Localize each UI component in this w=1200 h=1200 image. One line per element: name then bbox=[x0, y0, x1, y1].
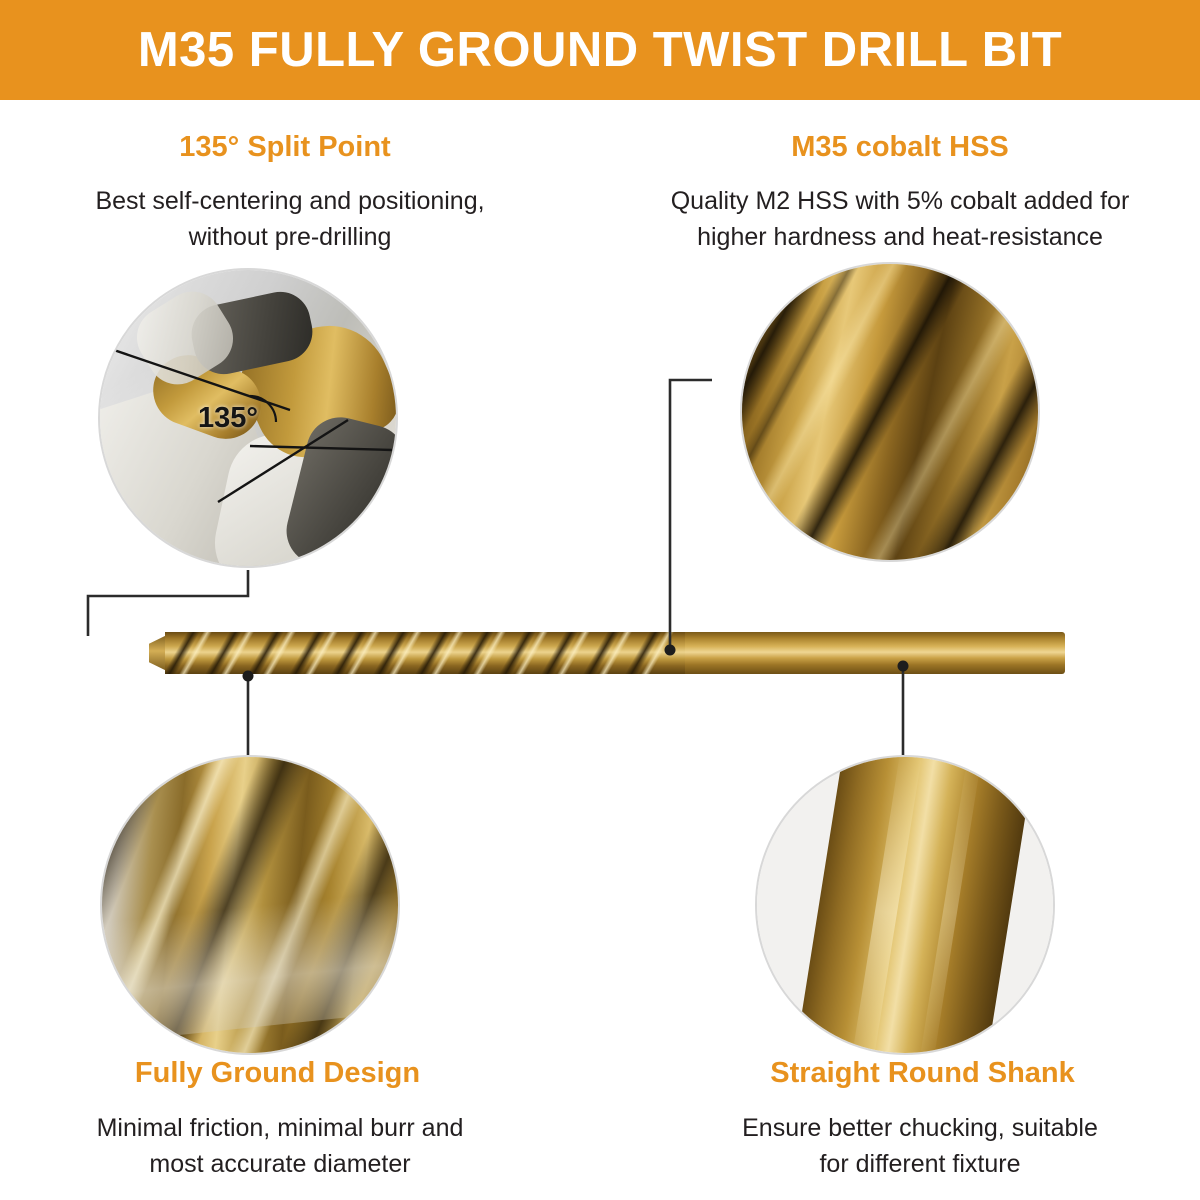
drill-flutes bbox=[165, 632, 685, 674]
callout-body-round-shank-line2: for different fixture bbox=[660, 1146, 1180, 1182]
infographic-root: M35 FULLY GROUND TWIST DRILL BIT 135° Sp… bbox=[0, 0, 1200, 1200]
product-drill-bit bbox=[75, 610, 1065, 690]
callout-body-fully-ground-line2: most accurate diameter bbox=[20, 1146, 540, 1182]
photo-fully-ground bbox=[100, 755, 400, 1055]
photo-split-point-tip: 135° bbox=[98, 268, 398, 568]
page-title: M35 FULLY GROUND TWIST DRILL BIT bbox=[138, 22, 1062, 78]
callout-body-cobalt-hss-line1: Quality M2 HSS with 5% cobalt added for bbox=[610, 183, 1190, 219]
callout-body-cobalt-hss-line2: higher hardness and heat-resistance bbox=[610, 219, 1190, 255]
callout-body-split-point-line2: without pre-drilling bbox=[30, 219, 550, 255]
callout-body-split-point-line1: Best self-centering and positioning, bbox=[30, 183, 550, 219]
angle-annotation: 135° bbox=[198, 402, 258, 435]
callout-body-fully-ground-line1: Minimal friction, minimal burr and bbox=[20, 1110, 540, 1146]
photo-cobalt-flute bbox=[740, 262, 1040, 562]
drill-shank bbox=[670, 632, 1065, 674]
callout-title-split-point: 135° Split Point bbox=[0, 131, 570, 164]
callout-title-round-shank: Straight Round Shank bbox=[645, 1057, 1200, 1090]
photo-round-shank bbox=[755, 755, 1055, 1055]
callout-title-cobalt-hss: M35 cobalt HSS bbox=[615, 131, 1185, 164]
callout-body-round-shank-line1: Ensure better chucking, suitable bbox=[660, 1110, 1180, 1146]
callout-title-fully-ground: Fully Ground Design bbox=[0, 1057, 555, 1090]
header-banner: M35 FULLY GROUND TWIST DRILL BIT bbox=[0, 0, 1200, 100]
